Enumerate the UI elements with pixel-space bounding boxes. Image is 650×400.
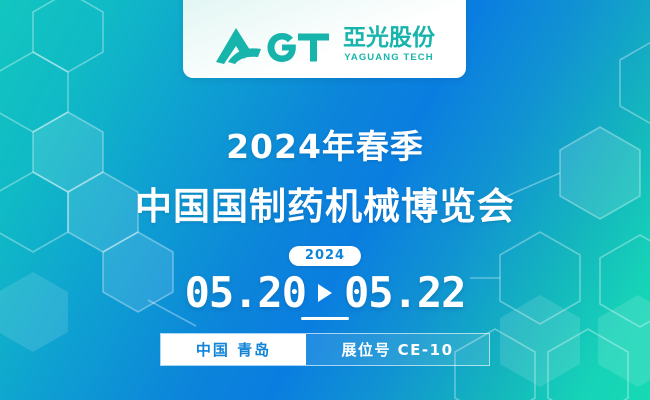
date-end: 05.22 bbox=[344, 268, 465, 317]
headline-event-title: 中国国制药机械博览会 bbox=[0, 176, 650, 230]
brand-english-name: YAGUANG TECH bbox=[344, 53, 433, 63]
year-badge: 2024 bbox=[289, 246, 361, 266]
promotional-banner: 亞光股份 YAGUANG TECH 2024年春季 中国国制药机械博览会 202… bbox=[0, 0, 650, 400]
headline-season: 2024年春季 bbox=[0, 120, 650, 168]
agt-logo-mark bbox=[214, 26, 334, 64]
date-underline-rule bbox=[301, 317, 349, 320]
logo-panel: 亞光股份 YAGUANG TECH bbox=[183, 0, 466, 78]
footer-info-bar: 中国 青岛 展位号 CE-10 bbox=[160, 333, 490, 366]
logo-lockup: 亞光股份 YAGUANG TECH bbox=[214, 26, 435, 64]
booth-number-label: 展位号 CE-10 bbox=[306, 334, 489, 365]
date-start: 05.20 bbox=[185, 268, 306, 317]
event-date-range: 05.20 05.22 bbox=[0, 268, 650, 317]
arrow-right-icon bbox=[318, 284, 332, 302]
brand-chinese-name: 亞光股份 bbox=[343, 27, 435, 50]
venue-label: 中国 青岛 bbox=[161, 334, 306, 365]
brand-name-block: 亞光股份 YAGUANG TECH bbox=[343, 27, 435, 63]
